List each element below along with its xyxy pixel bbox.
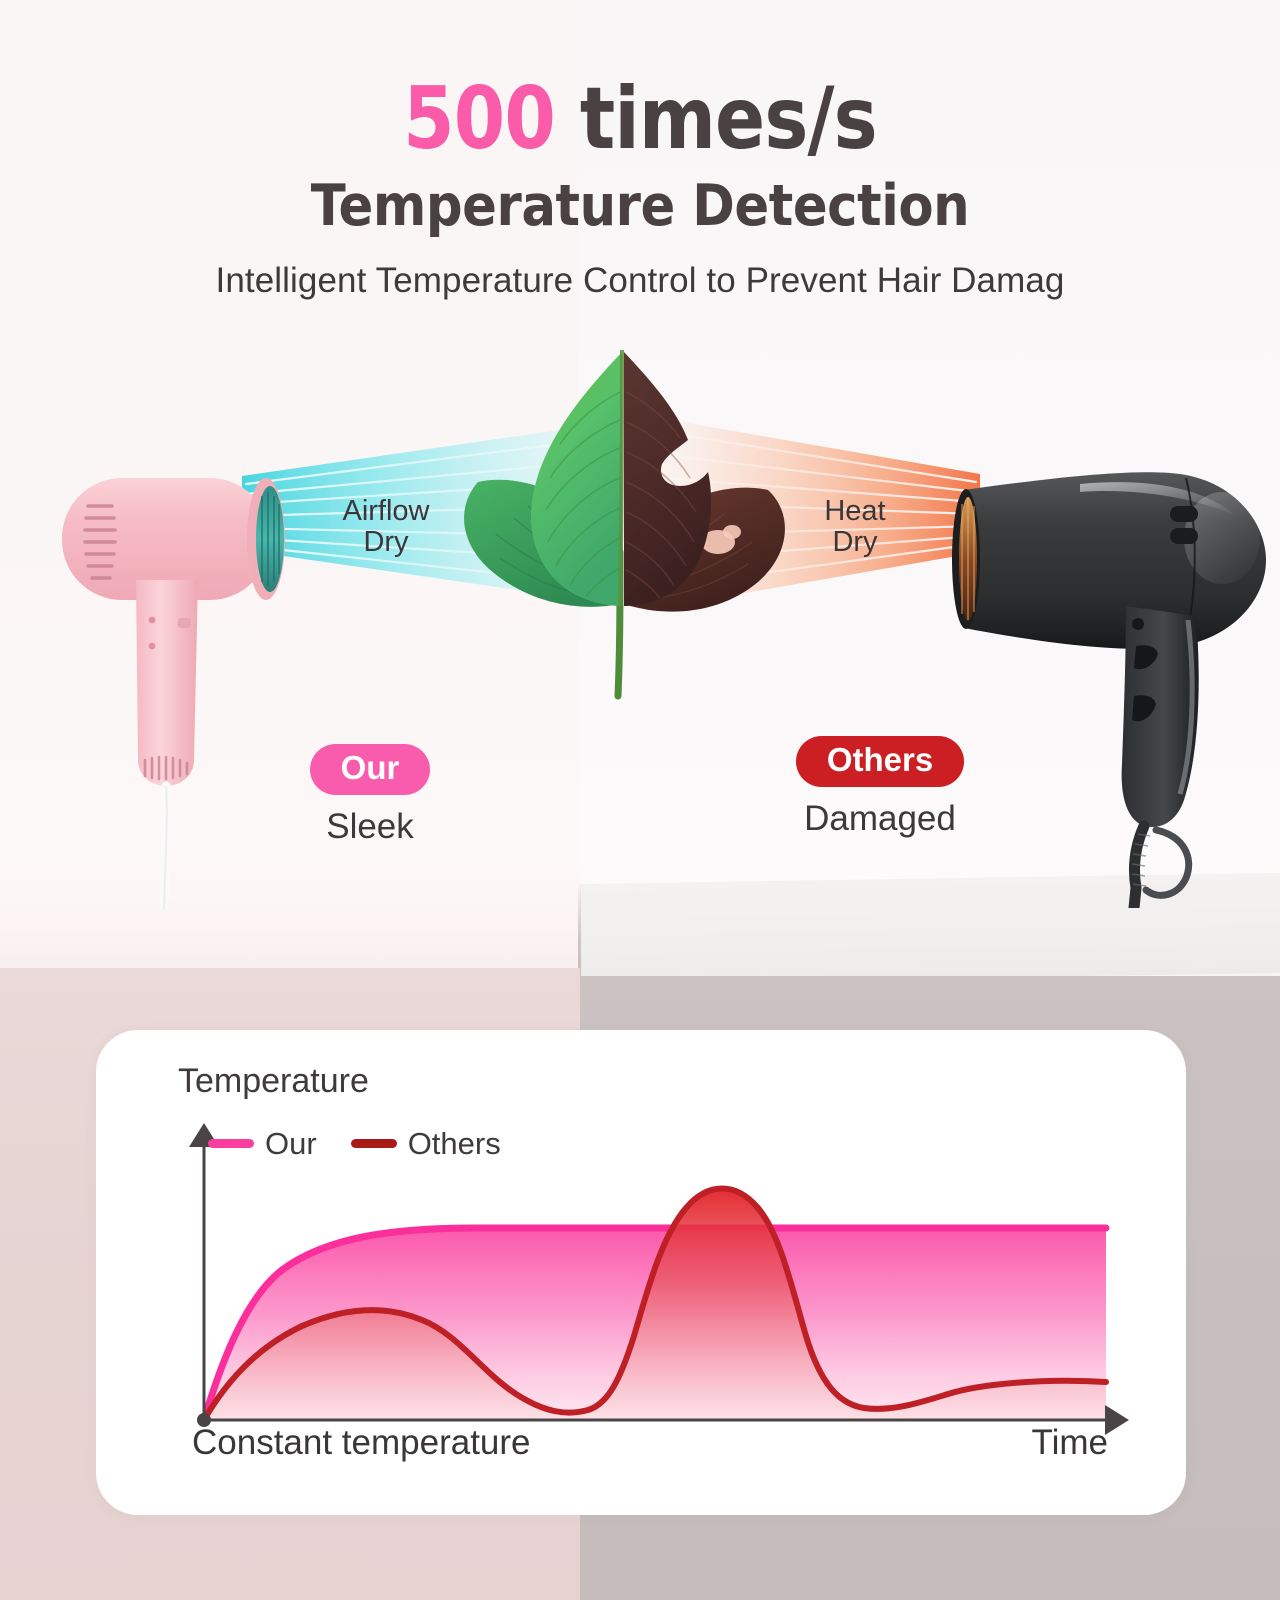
chart-x-axis-label-left: Constant temperature <box>192 1423 531 1463</box>
headline-subtitle: Intelligent Temperature Control to Preve… <box>0 261 1280 301</box>
headline-number-suffix: times/s <box>555 69 877 169</box>
legend-swatch-others <box>351 1139 397 1148</box>
headline-block: 500 times/s Temperature Detection Intell… <box>0 76 1280 301</box>
headline-secondary: Temperature Detection <box>64 178 1216 235</box>
others-caption: Damaged <box>740 799 1020 839</box>
cold-flow-label-line1: Airflow <box>306 496 466 527</box>
infographic-page: 500 times/s Temperature Detection Intell… <box>0 0 1280 1600</box>
legend-entry-our: Our <box>208 1128 317 1159</box>
legend-entry-others: Others <box>351 1128 501 1159</box>
others-badge: Others <box>796 736 964 787</box>
others-comparison-block: Others Damaged <box>740 736 1020 839</box>
temperature-chart-card: Temperature <box>96 1030 1186 1515</box>
headline-primary: 500 times/s <box>90 76 1191 162</box>
cold-flow-label-line2: Dry <box>306 527 466 558</box>
our-comparison-block: Our Sleek <box>230 744 510 847</box>
cold-flow-label: Airflow Dry <box>306 496 466 557</box>
split-leaf-illustration <box>452 336 812 706</box>
hot-flow-label-line2: Dry <box>790 527 920 558</box>
hot-flow-label-line1: Heat <box>790 496 920 527</box>
chart-legend: Our Others <box>208 1128 501 1159</box>
legend-label-our: Our <box>265 1128 317 1159</box>
our-caption: Sleek <box>230 807 510 847</box>
hot-flow-label: Heat Dry <box>790 496 920 557</box>
our-badge: Our <box>310 744 431 795</box>
chart-x-axis-label-right: Time <box>1032 1423 1108 1463</box>
legend-label-others: Others <box>408 1128 501 1159</box>
headline-number: 500 <box>403 69 555 169</box>
legend-swatch-our <box>208 1139 254 1148</box>
